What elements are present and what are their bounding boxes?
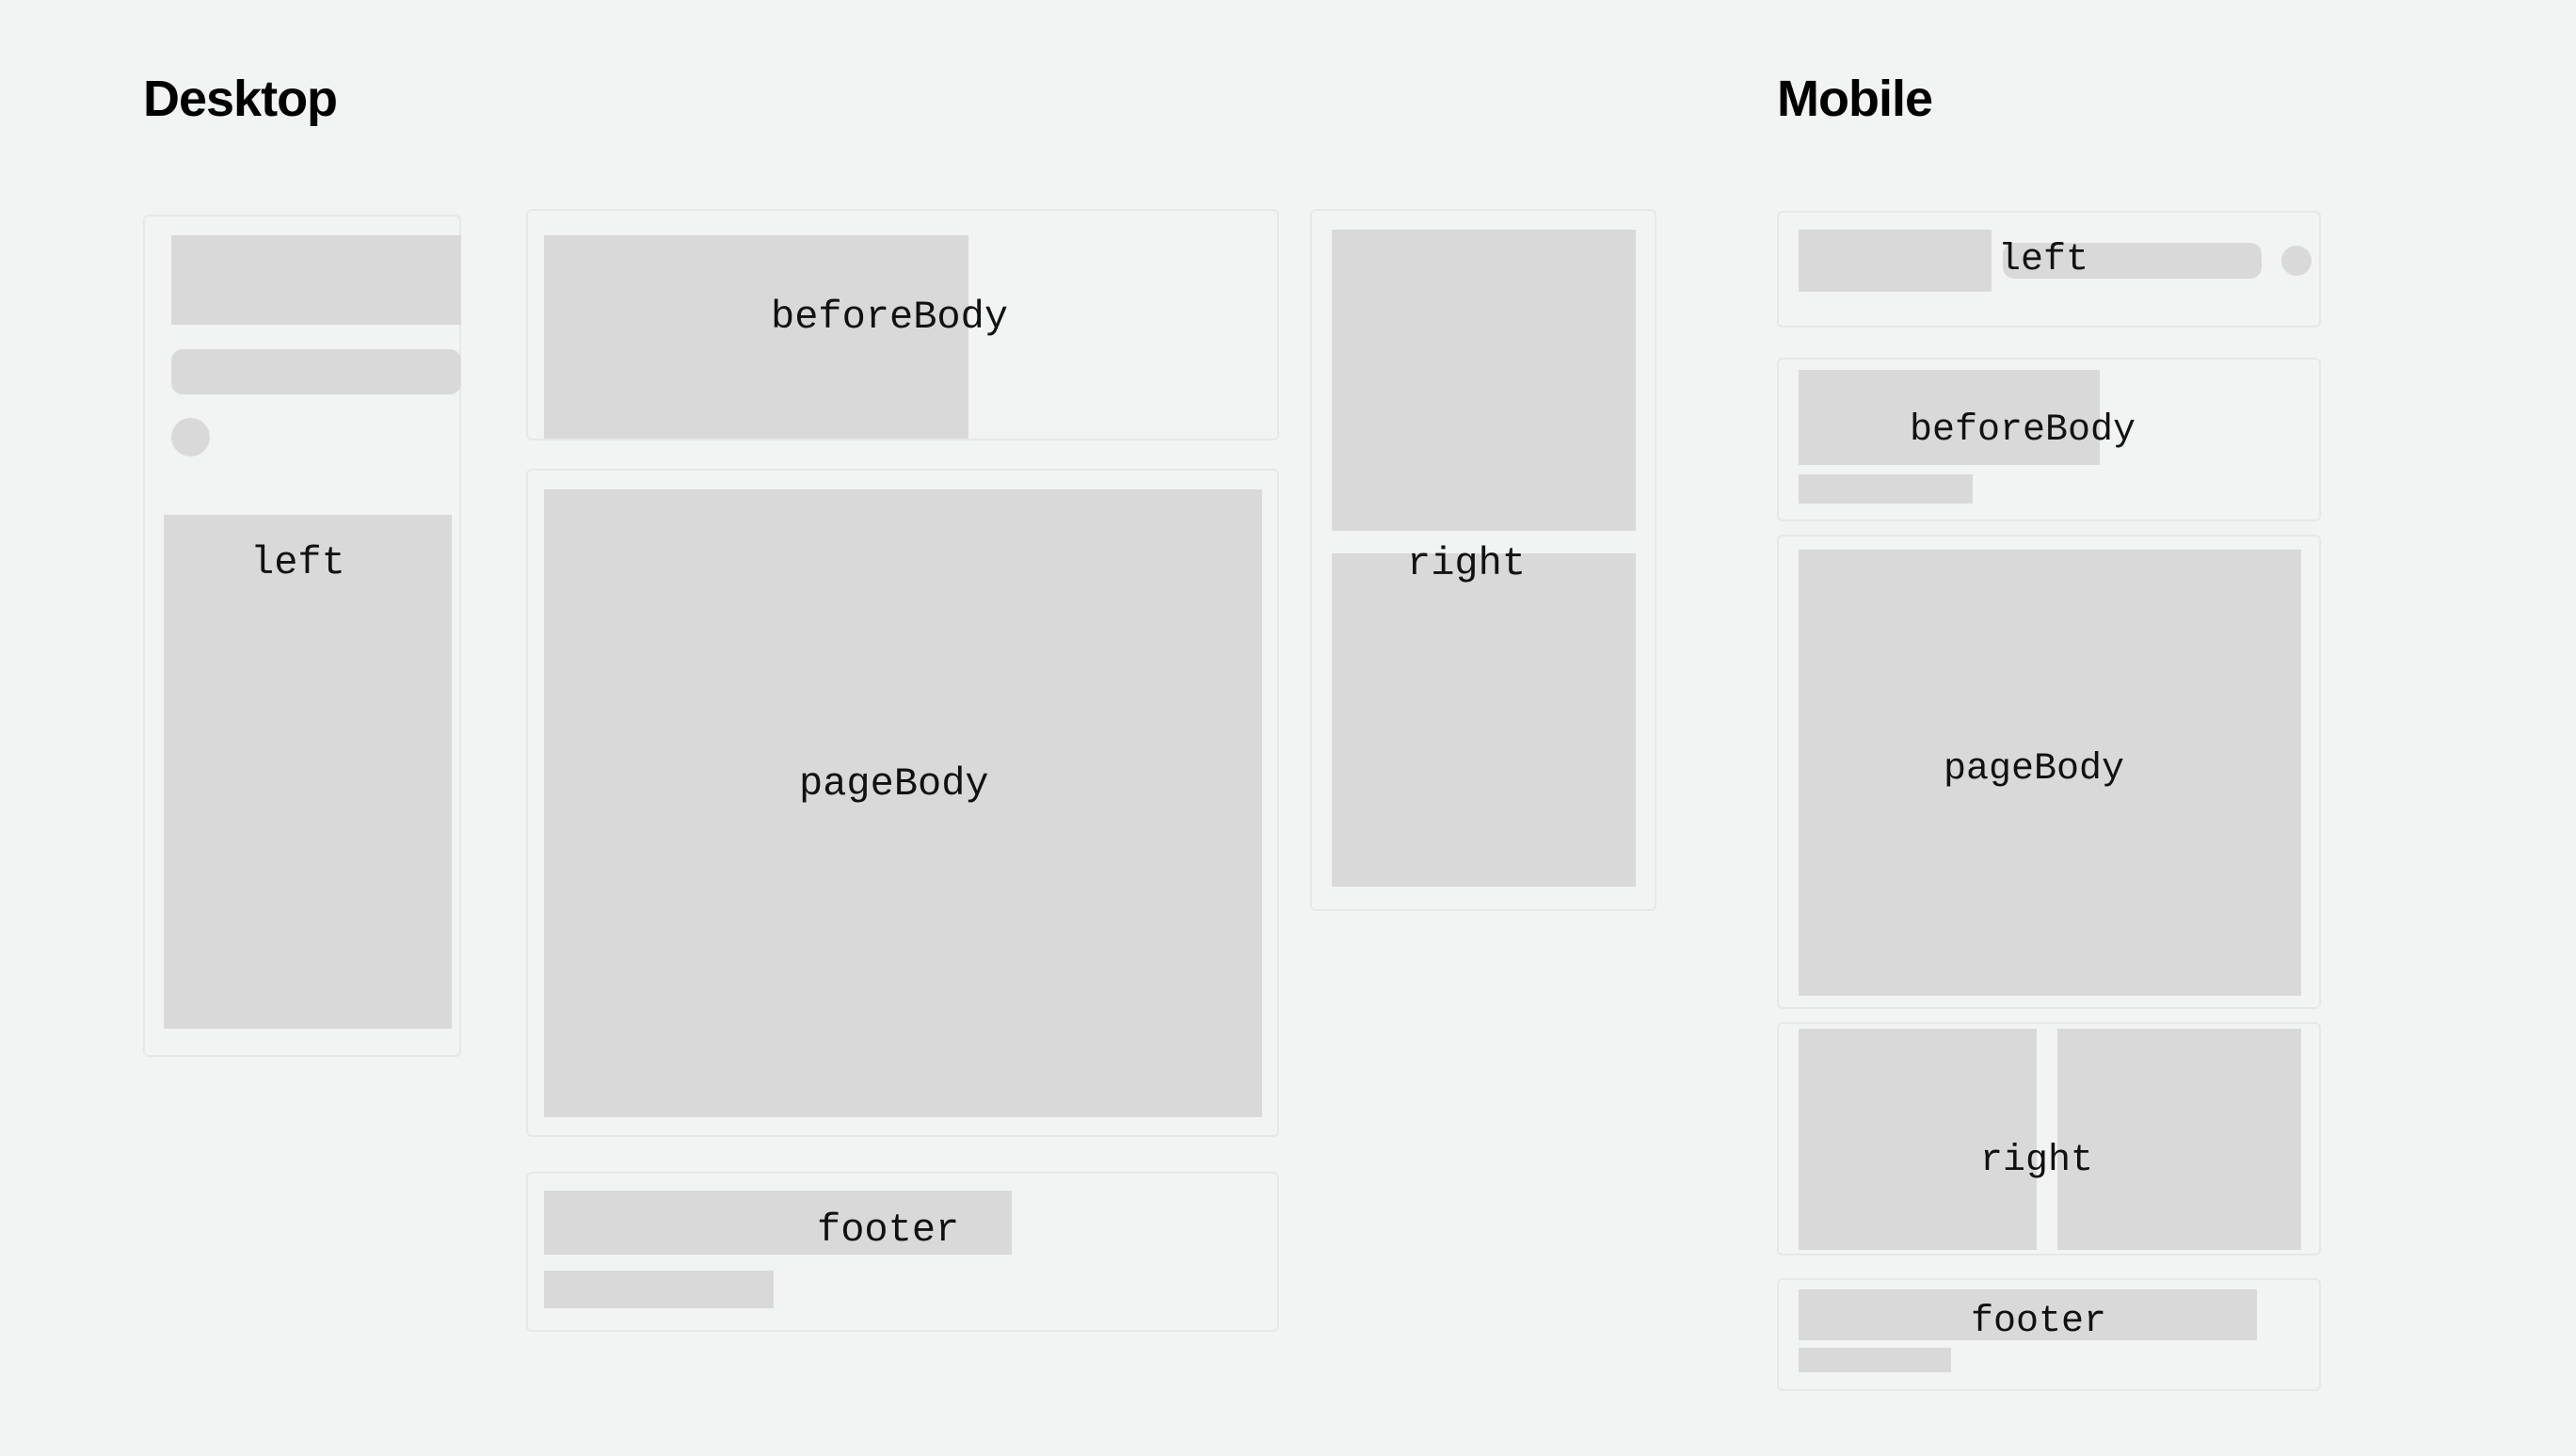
desktop-footer-caption-block — [544, 1271, 774, 1308]
avatar-circle-icon — [2281, 246, 2312, 276]
mobile-right-widget-block-left — [1799, 1029, 2037, 1250]
mobile-footer-block — [1799, 1289, 2257, 1340]
mobile-pagebody-content-block — [1799, 550, 2301, 996]
mobile-section-title: Mobile — [1777, 73, 1932, 124]
mobile-left-header-block — [1799, 230, 1992, 292]
desktop-pagebody-content-block — [544, 489, 1262, 1117]
desktop-footer-block — [544, 1191, 1012, 1255]
desktop-beforebody-caption-block — [544, 386, 783, 425]
desktop-left-subheader-block — [171, 349, 461, 394]
wireframe-stage: Desktop left beforeBody pageBody footer … — [0, 0, 2576, 1456]
desktop-right-widget-block-top — [1332, 230, 1636, 531]
mobile-right-widget-block-right — [2057, 1029, 2301, 1250]
desktop-right-widget-block-bottom — [1332, 553, 1636, 887]
mobile-left-subheader-block — [2003, 243, 2262, 279]
mobile-beforebody-hero-block — [1799, 370, 2100, 465]
desktop-section-title: Desktop — [143, 73, 337, 124]
desktop-left-header-block — [171, 235, 461, 325]
mobile-footer-caption-block — [1799, 1348, 1951, 1372]
mobile-beforebody-caption-block — [1799, 474, 1973, 504]
desktop-left-nav-block — [164, 515, 452, 1029]
avatar-circle-icon — [171, 418, 210, 456]
